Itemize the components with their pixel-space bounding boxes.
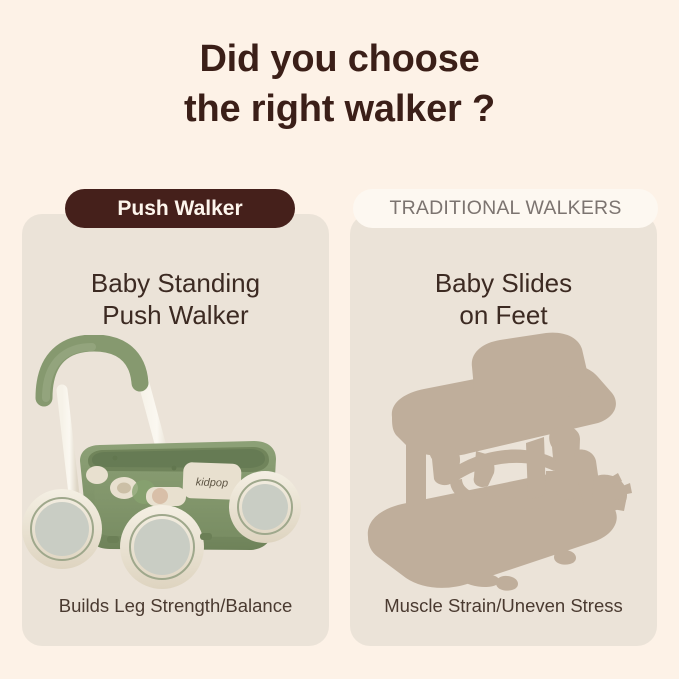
page-title: Did you choose the right walker ? — [0, 34, 679, 134]
card-traditional-walkers-caption: Muscle Strain/Uneven Stress — [350, 595, 657, 617]
card-traditional-walkers-title-line-1: Baby Slides — [435, 267, 572, 299]
page-title-line-2: the right walker ? — [0, 84, 679, 134]
wheel-back-left — [22, 489, 102, 569]
card-push-walker-caption: Builds Leg Strength/Balance — [22, 595, 329, 617]
wheel-front-left — [120, 505, 204, 589]
card-push-walker-title: Baby Standing Push Walker — [91, 267, 260, 331]
card-push-walker-title-line-1: Baby Standing — [91, 267, 260, 299]
page-title-line-1: Did you choose — [0, 34, 679, 84]
card-push-walker-title-line-2: Push Walker — [91, 299, 260, 331]
card-traditional-walkers[interactable]: TRADITIONAL WALKERS Baby Slides on Feet — [350, 214, 657, 646]
wheel-back-right — [229, 471, 301, 543]
card-traditional-walkers-title-line-2: on Feet — [435, 299, 572, 331]
traditional-walker-silhouette-icon — [350, 331, 657, 596]
badge-traditional-walkers: TRADITIONAL WALKERS — [353, 189, 658, 228]
card-traditional-walkers-title: Baby Slides on Feet — [435, 267, 572, 331]
card-push-walker[interactable]: Push Walker Baby Standing Push Walker — [22, 214, 329, 646]
comparison-cards: Push Walker Baby Standing Push Walker — [22, 214, 657, 646]
green-push-walker-icon: kidpop — [22, 335, 329, 600]
badge-push-walker: Push Walker — [65, 189, 295, 228]
brand-label: kidpop — [196, 476, 229, 489]
